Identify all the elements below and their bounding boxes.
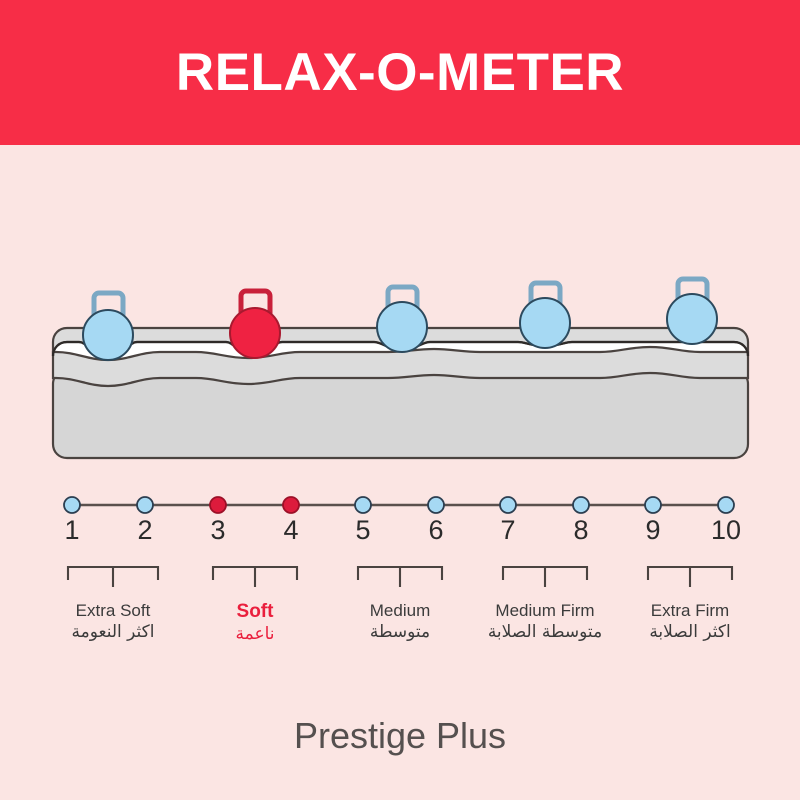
weight-3-body [377, 302, 427, 352]
group-label-medium-firm-ar: متوسطة الصلابة [488, 622, 602, 644]
scale-number-6[interactable]: 6 [428, 517, 443, 544]
header-banner: RELAX-O-METER [0, 0, 800, 145]
scale-number-9[interactable]: 9 [645, 517, 660, 544]
scale-number-5[interactable]: 5 [355, 517, 370, 544]
firmness-group-brackets [68, 567, 732, 587]
group-label-extra-firm[interactable]: Extra Firm اكثر الصلابة [649, 600, 730, 644]
scale-dot-10[interactable] [718, 497, 734, 513]
page-title: RELAX-O-METER [176, 42, 624, 103]
scale-number-4[interactable]: 4 [283, 517, 298, 544]
scale-dot-7[interactable] [500, 497, 516, 513]
weight-4 [520, 283, 570, 348]
firmness-diagram: 1 2 3 4 5 6 7 8 9 10 Extra Soft اكثر الن… [0, 145, 800, 800]
mattress-base-layer [53, 370, 748, 458]
weight-4-body [520, 298, 570, 348]
scale-number-10[interactable]: 10 [711, 517, 741, 544]
group-label-soft-ar: ناعمة [236, 624, 275, 646]
scale-number-3[interactable]: 3 [210, 517, 225, 544]
firmness-scale-track [64, 497, 734, 513]
scale-number-2[interactable]: 2 [137, 517, 152, 544]
weight-2-body [230, 308, 280, 358]
weight-5 [667, 279, 717, 344]
group-label-soft-en: Soft [236, 600, 275, 624]
weight-5-body [667, 294, 717, 344]
scale-number-8[interactable]: 8 [573, 517, 588, 544]
scale-number-7[interactable]: 7 [500, 517, 515, 544]
scale-dot-3[interactable] [210, 497, 226, 513]
scale-dot-5[interactable] [355, 497, 371, 513]
scale-dot-9[interactable] [645, 497, 661, 513]
mattress-and-scale-svg [0, 145, 800, 800]
weight-2 [230, 291, 280, 358]
scale-dot-1[interactable] [64, 497, 80, 513]
weight-1-body [83, 310, 133, 360]
scale-dot-8[interactable] [573, 497, 589, 513]
group-label-extra-soft-en: Extra Soft [72, 600, 155, 622]
weight-3 [377, 287, 427, 352]
weight-1 [83, 293, 133, 360]
group-label-extra-firm-en: Extra Firm [649, 600, 730, 622]
scale-number-row: 1 2 3 4 5 6 7 8 9 10 [0, 517, 800, 551]
firmness-group-label-row: Extra Soft اكثر النعومة Soft ناعمة Mediu… [0, 600, 800, 680]
group-label-extra-soft-ar: اكثر النعومة [72, 622, 155, 644]
group-label-soft[interactable]: Soft ناعمة [236, 600, 275, 646]
group-label-extra-firm-ar: اكثر الصلابة [649, 622, 730, 644]
product-name-caption: Prestige Plus [0, 715, 800, 757]
scale-dot-6[interactable] [428, 497, 444, 513]
scale-dot-2[interactable] [137, 497, 153, 513]
group-label-medium-firm-en: Medium Firm [488, 600, 602, 622]
group-label-medium-en: Medium [370, 600, 430, 622]
scale-dot-4[interactable] [283, 497, 299, 513]
group-label-medium-ar: متوسطة [370, 622, 430, 644]
group-label-medium-firm[interactable]: Medium Firm متوسطة الصلابة [488, 600, 602, 644]
scale-number-1[interactable]: 1 [64, 517, 79, 544]
group-label-medium[interactable]: Medium متوسطة [370, 600, 430, 644]
group-label-extra-soft[interactable]: Extra Soft اكثر النعومة [72, 600, 155, 644]
